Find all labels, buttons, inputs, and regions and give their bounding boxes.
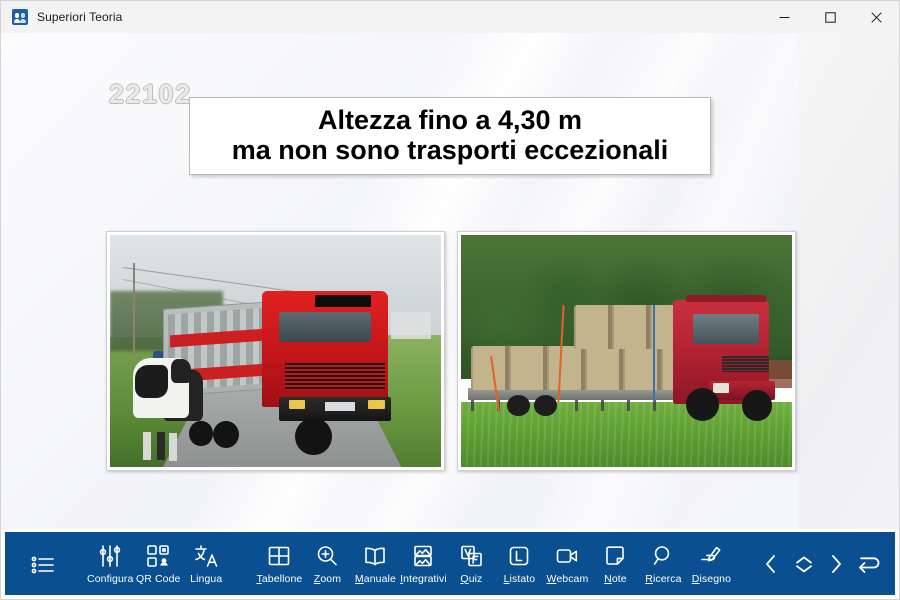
lingua-button[interactable]: Lingua — [182, 541, 230, 587]
close-button[interactable] — [853, 1, 899, 33]
ricerca-rest: icerca — [653, 573, 682, 585]
note-button[interactable]: Note — [591, 541, 639, 587]
people-app-icon — [12, 9, 28, 25]
title-bar: Superiori Teoria — [1, 1, 899, 33]
photo-1-canvas — [110, 235, 441, 467]
return-button[interactable] — [852, 540, 885, 588]
integrativi-button[interactable]: Integrativi — [399, 541, 447, 587]
caption-line-1: Altezza fino a 4,30 m — [200, 105, 700, 135]
qrcode-button[interactable]: QR Code — [134, 541, 182, 587]
title-bar-left: Superiori Teoria — [1, 9, 122, 25]
photo-row — [106, 231, 796, 471]
note-page-icon — [602, 543, 628, 569]
lingua-label: Lingua — [190, 573, 222, 585]
tabellone-rest: abellone — [262, 573, 303, 585]
webcam-accel: W — [547, 573, 557, 585]
book-icon — [362, 543, 388, 569]
manuale-label: Manuale — [355, 573, 396, 585]
note-rest: ote — [612, 573, 627, 585]
configura-label: Configura — [87, 573, 133, 585]
configura-button[interactable]: Configura — [86, 541, 134, 587]
listato-button[interactable]: Listato — [495, 541, 543, 587]
webcam-button[interactable]: Webcam — [543, 541, 591, 587]
next-button[interactable] — [820, 540, 853, 588]
tabellone-label: Tabellone — [256, 573, 302, 585]
manuale-accel: M — [355, 573, 364, 585]
manuale-rest: anuale — [364, 573, 396, 585]
zoom-label: Zoom — [314, 573, 341, 585]
sliders-icon — [97, 543, 123, 569]
quiz-button[interactable]: Quiz — [447, 541, 495, 587]
window-controls — [761, 1, 899, 33]
note-label: Note — [604, 573, 627, 585]
minimize-button[interactable] — [761, 1, 807, 33]
integrativi-rest: ntegrativi — [403, 573, 447, 585]
quiz-rest: uiz — [469, 573, 483, 585]
slide-content-area[interactable]: 22102 Altezza fino a 4,30 m ma non sono … — [1, 33, 899, 529]
tabellone-button[interactable]: Tabellone — [255, 541, 303, 587]
ricerca-label: Ricerca — [645, 573, 681, 585]
quiz-label: Quiz — [460, 573, 482, 585]
updown-button[interactable] — [787, 540, 820, 588]
disegno-rest: isegno — [699, 573, 731, 585]
video-camera-icon — [554, 543, 580, 569]
window-title: Superiori Teoria — [37, 10, 122, 24]
maximize-button[interactable] — [807, 1, 853, 33]
zoom-rest: oom — [320, 573, 341, 585]
caption-box: Altezza fino a 4,30 m ma non sono traspo… — [189, 97, 711, 175]
manuale-button[interactable]: Manuale — [351, 541, 399, 587]
webcam-label: Webcam — [547, 573, 589, 585]
toolbar-container: Configura QR Code — [1, 529, 899, 599]
grid-icon — [266, 543, 292, 569]
webcam-rest: ebcam — [556, 573, 588, 585]
images-icon — [410, 543, 436, 569]
note-accel: N — [604, 573, 612, 585]
listato-label: Listato — [504, 573, 536, 585]
pen-draw-icon — [698, 543, 724, 569]
app-window: Superiori Teoria 22102 Altezza fino a 4,… — [0, 0, 900, 600]
qr-code-icon — [145, 543, 171, 569]
listato-l-icon — [506, 543, 532, 569]
indice-button[interactable] — [19, 550, 67, 578]
caption-line-2: ma non sono trasporti eccezionali — [200, 135, 700, 165]
search-icon — [650, 543, 676, 569]
quiz-accel: Q — [460, 573, 468, 585]
listato-rest: istato — [510, 573, 536, 585]
disegno-label: Disegno — [692, 573, 731, 585]
slide-number: 22102 — [109, 79, 192, 110]
hay-bales-truck-photo[interactable] — [457, 231, 796, 471]
slide-right-gutter — [799, 33, 899, 529]
ricerca-button[interactable]: Ricerca — [639, 541, 687, 587]
qrcode-label: QR Code — [136, 573, 180, 585]
ricerca-accel: R — [645, 573, 653, 585]
photo-2-canvas — [461, 235, 792, 467]
iveco-livestock-truck-photo[interactable] — [106, 231, 445, 471]
integrativi-label: Integrativi — [400, 573, 447, 585]
zoom-button[interactable]: Zoom — [303, 541, 351, 587]
vf-cards-icon — [458, 543, 484, 569]
previous-button[interactable] — [755, 540, 788, 588]
list-icon — [30, 552, 56, 578]
translate-icon — [193, 543, 219, 569]
bottom-toolbar: Configura QR Code — [5, 532, 895, 595]
disegno-button[interactable]: Disegno — [687, 541, 735, 587]
zoom-in-icon — [314, 543, 340, 569]
